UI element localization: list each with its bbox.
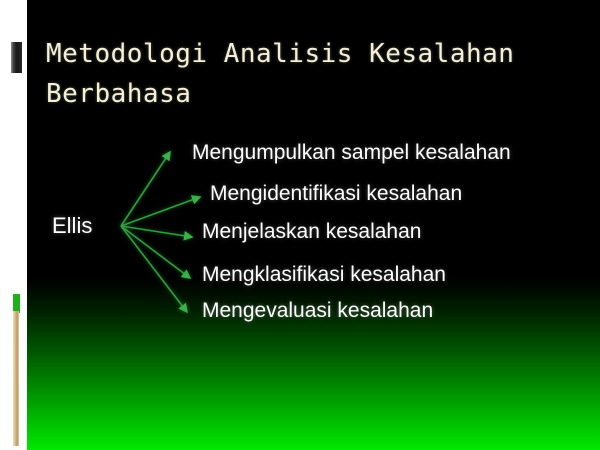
list-item: Menjelaskan kesalahan — [202, 219, 421, 245]
slide-title-line-2: Berbahasa — [46, 74, 566, 114]
list-item: Mengevaluasi kesalahan — [202, 298, 433, 324]
arrow-2 — [121, 197, 200, 226]
list-item: Mengklasifikasi kesalahan — [202, 262, 446, 288]
margin-gold-line-decoration — [13, 311, 19, 446]
arrow-3 — [121, 226, 192, 237]
slide-canvas: Metodologi Analisis Kesalahan Berbahasa … — [0, 0, 600, 450]
margin-dark-bar-decoration — [11, 42, 22, 73]
source-label: Ellis — [52, 212, 92, 240]
arrow-1 — [121, 152, 170, 226]
slide-content-area: Metodologi Analisis Kesalahan Berbahasa … — [26, 0, 600, 450]
slide-title-line-1: Metodologi Analisis Kesalahan — [46, 34, 566, 74]
slide-title: Metodologi Analisis Kesalahan Berbahasa — [46, 34, 566, 114]
list-item: Mengumpulkan sampel kesalahan — [192, 140, 511, 166]
list-item: Mengidentifikasi kesalahan — [210, 181, 462, 207]
